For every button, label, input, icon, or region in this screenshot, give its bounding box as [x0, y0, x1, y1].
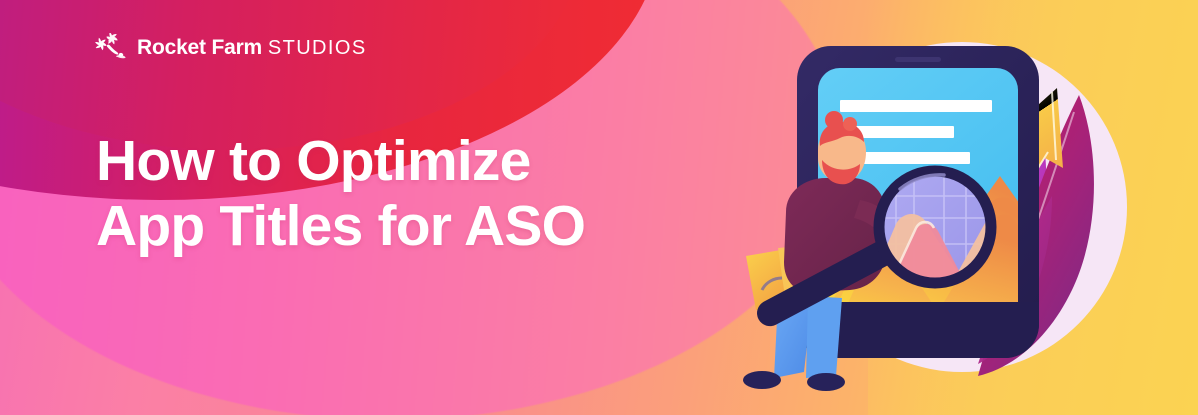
aso-app-search-illustration	[700, 0, 1198, 415]
blog-header-banner: Rocket Farm STUDIOS How to Optimize App …	[0, 0, 1198, 415]
brand-logo[interactable]: Rocket Farm STUDIOS	[94, 33, 367, 61]
person-hair-bun	[825, 111, 843, 129]
page-title-line-2: App Titles for ASO	[96, 194, 585, 259]
phone-speaker	[895, 57, 941, 62]
brand-name: Rocket Farm STUDIOS	[137, 37, 367, 58]
person-shoe-front	[807, 373, 845, 391]
brand-name-light: STUDIOS	[268, 37, 367, 59]
page-title-line-1: How to Optimize	[96, 129, 585, 194]
brand-name-bold: Rocket Farm	[137, 36, 262, 59]
page-title: How to Optimize App Titles for ASO	[96, 129, 585, 259]
person-leg-front	[806, 296, 842, 378]
rocket-farm-mark-icon	[94, 33, 128, 61]
person-shoe-back	[743, 371, 781, 389]
person-hair-bun-2	[843, 117, 857, 131]
